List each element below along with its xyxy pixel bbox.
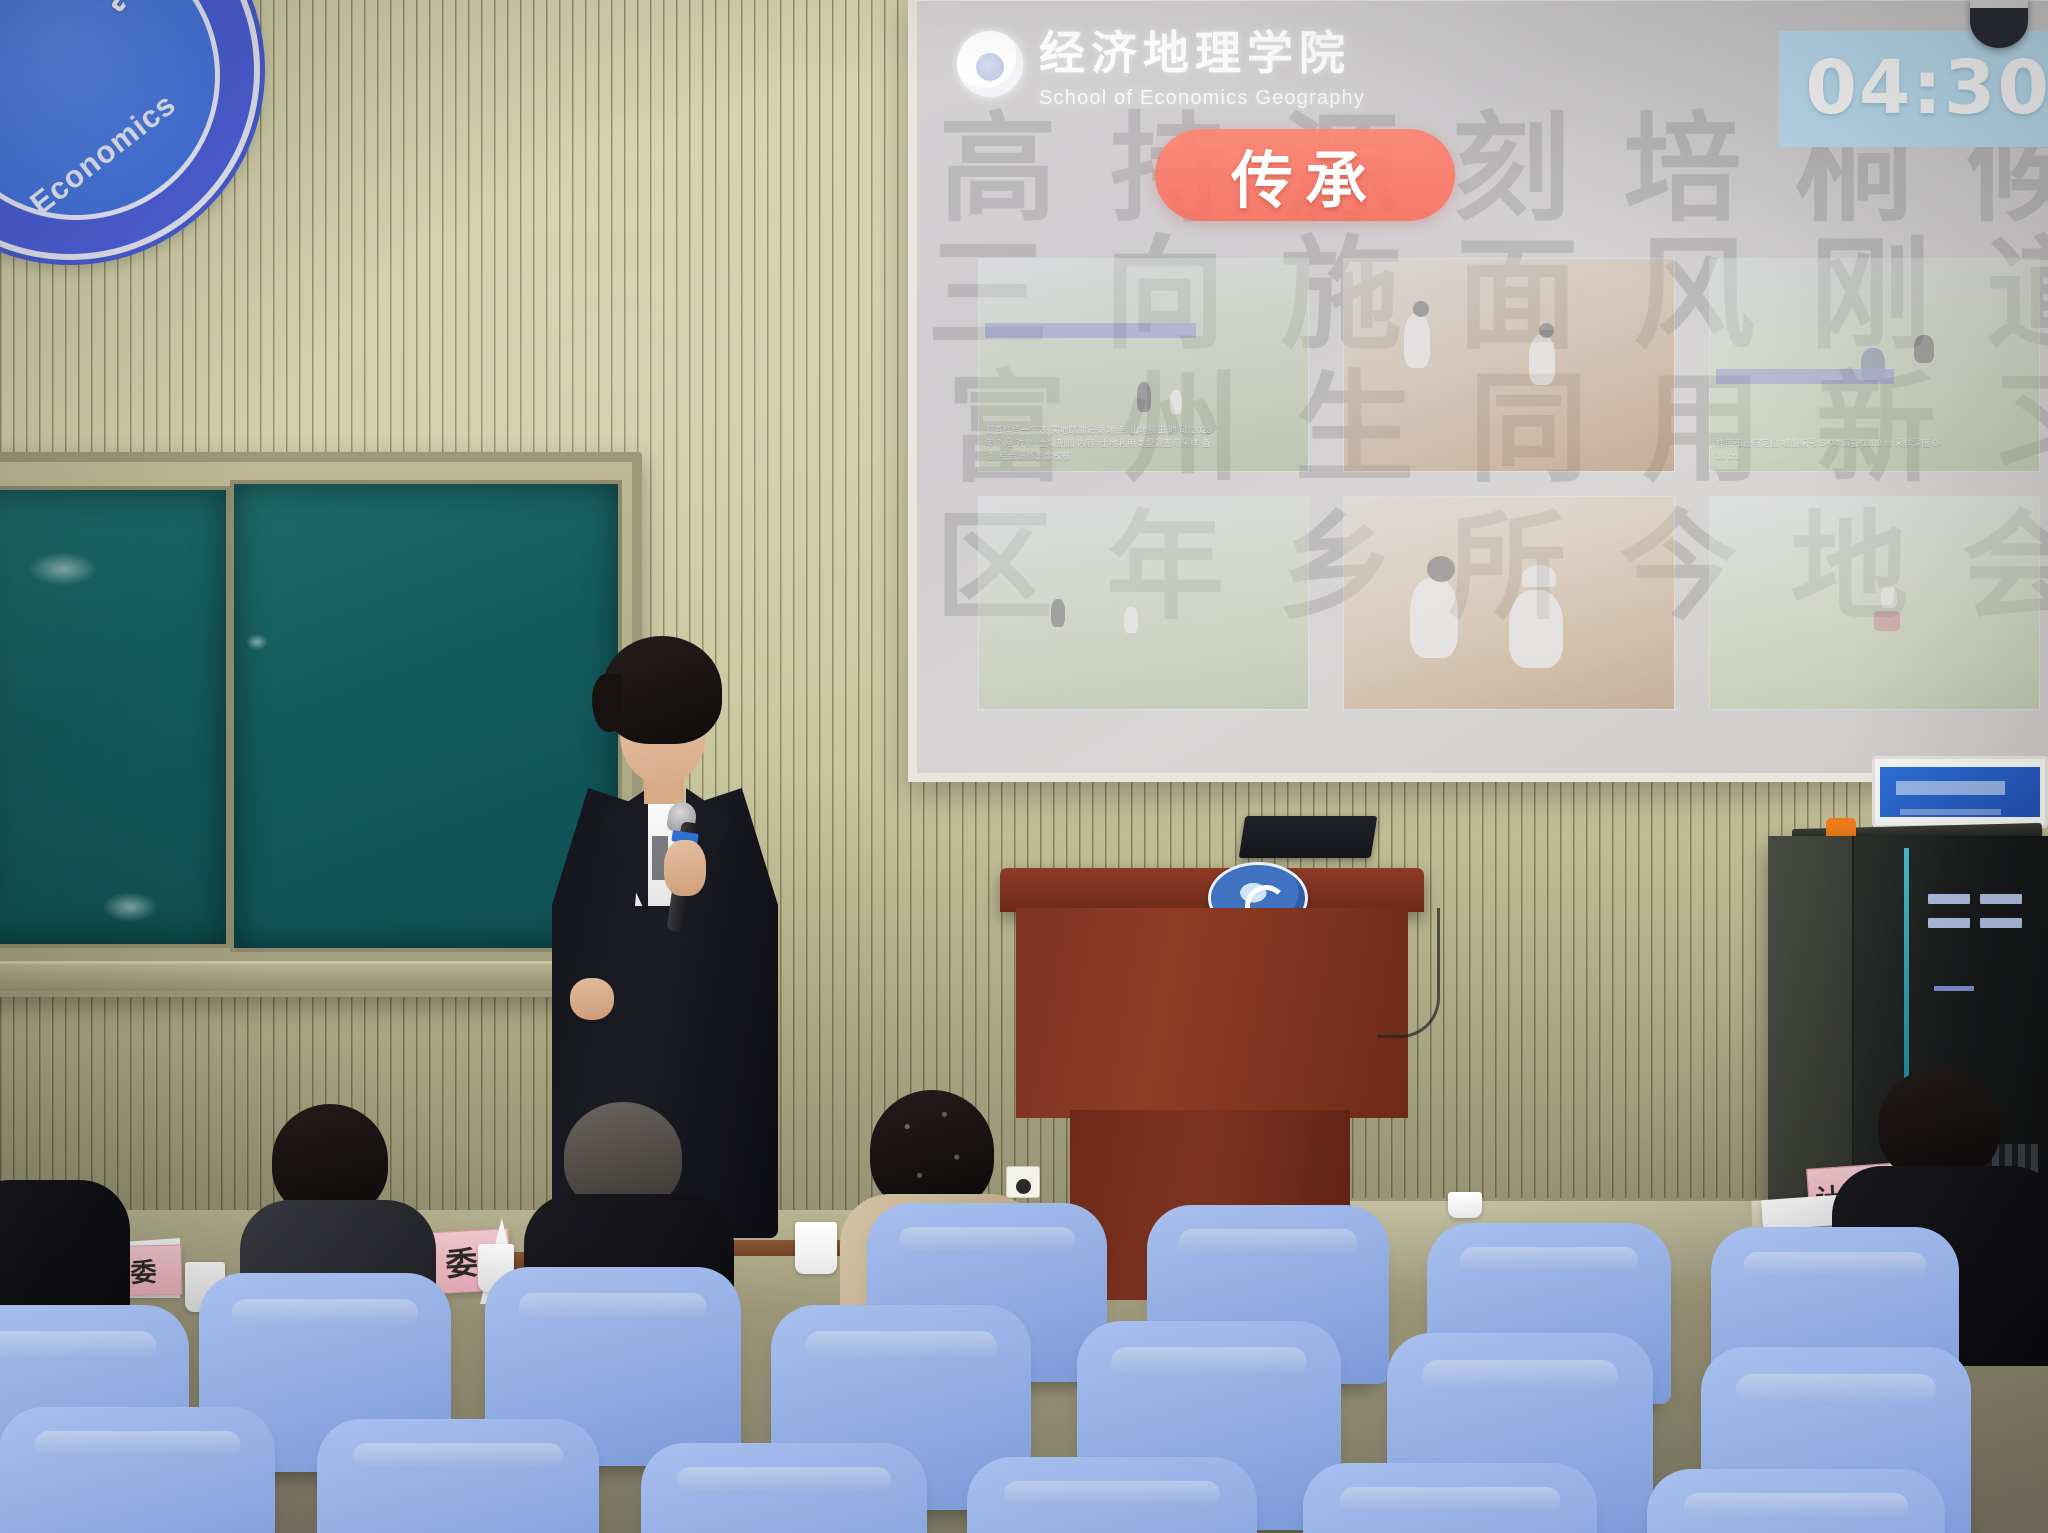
seat[interactable]	[654, 1456, 914, 1533]
figure	[1529, 335, 1555, 385]
figure	[1410, 578, 1458, 658]
figure	[1509, 590, 1563, 668]
countdown-timer: 04:30	[1779, 31, 2048, 147]
figure-head	[1413, 301, 1429, 317]
figure	[1874, 611, 1900, 631]
paper-cup	[795, 1222, 837, 1274]
figure	[1051, 599, 1065, 627]
chalkboard-pane-left	[0, 486, 230, 948]
chalk-smudge	[102, 892, 158, 922]
power-outlet	[1006, 1166, 1040, 1198]
projection-screen: 高 持 源 刻 培 桐 候 仁 之 三 向 施 面 风 刚 道 三 富 州 生 …	[908, 0, 2048, 782]
slide-photo	[979, 497, 1308, 709]
chalk-smudge	[28, 552, 98, 586]
rack-led	[1928, 894, 1970, 904]
photo-caption-bar	[1716, 369, 1894, 384]
photo-caption-text: 调查样点一览表 实地踏勘记录 地点: 山地梯田 时间: 2023 年 7 月 对…	[985, 424, 1216, 463]
rack-led	[1934, 986, 1974, 991]
figure	[1137, 382, 1151, 412]
lecture-hall-scene: 学院 Economics 高 持 源 刻 培 桐 候 仁 之 三 向 施 面 风…	[0, 0, 2048, 1533]
slide-photo	[1710, 497, 2039, 709]
figure	[1404, 314, 1430, 368]
slide-title-badge: 传承	[1155, 129, 1455, 221]
seat[interactable]	[980, 1470, 1244, 1533]
chalk-tray	[0, 961, 634, 991]
laptop[interactable]	[1239, 816, 1378, 858]
seat[interactable]	[1316, 1476, 1584, 1533]
slide-title-text: 传承	[1231, 130, 1379, 220]
figure-head	[1539, 323, 1554, 338]
figure	[1914, 335, 1934, 363]
slide-photo	[1344, 259, 1673, 471]
person-head	[1878, 1068, 2000, 1180]
rack-door[interactable]	[1768, 836, 1854, 1204]
presenter-hand-right	[664, 840, 706, 896]
paper-cup	[1448, 1192, 1482, 1218]
slide-photo: 调查样点一览表 实地踏勘记录 地点: 山地梯田 时间: 2023 年 7 月 对…	[979, 259, 1308, 471]
slide-logo-english: School of Economics Geography	[1039, 87, 1365, 110]
timer-value: 04:30	[1805, 45, 2048, 131]
figure	[1170, 390, 1182, 414]
rack-led	[1980, 918, 2022, 928]
figure-cap	[1522, 565, 1556, 587]
seat[interactable]	[330, 1432, 586, 1533]
slide-photo: 样带布设与定位 坡面编号 S-04 海拔 1280 m 采样深度 0-30 cm	[1710, 259, 2039, 471]
figure-head	[1427, 556, 1455, 582]
podium-body	[1016, 908, 1408, 1118]
photo-caption-bar	[985, 323, 1196, 338]
rack-led	[1980, 894, 2022, 904]
monitor-screen	[1880, 767, 2040, 817]
figure	[1124, 607, 1138, 633]
slide-surface: 高 持 源 刻 培 桐 候 仁 之 三 向 施 面 风 刚 道 三 富 州 生 …	[917, 1, 2048, 773]
rack-led	[1928, 918, 1970, 928]
school-emblem-icon	[957, 31, 1023, 97]
slide-header-logo: 经济地理学院 School of Economics Geography	[957, 17, 1365, 110]
slide-photo-grid: 调查样点一览表 实地踏勘记录 地点: 山地梯田 时间: 2023 年 7 月 对…	[979, 259, 2039, 709]
figure	[1881, 586, 1897, 608]
slide-logo-chinese: 经济地理学院	[1039, 17, 1365, 83]
chalk-smudge	[246, 634, 268, 650]
seat[interactable]	[12, 1420, 262, 1533]
presenter-hair	[602, 636, 722, 744]
slide-photo	[1344, 497, 1673, 709]
photo-caption-text: 样带布设与定位 坡面编号 S-04 海拔 1280 m 采样深度 0-30 cm	[1716, 437, 1947, 463]
podium-cable	[1378, 908, 1440, 1038]
control-monitor	[1872, 756, 2048, 828]
presenter-hand-left	[570, 978, 614, 1020]
seat[interactable]	[1660, 1482, 1932, 1533]
